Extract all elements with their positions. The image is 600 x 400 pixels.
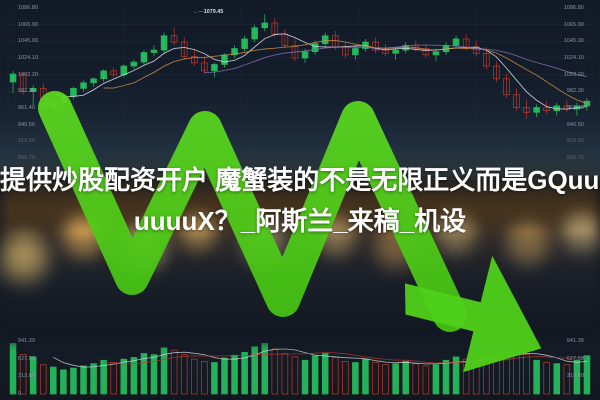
screenshot-stage: 1086.801065.901045.001024.101003.20982.3… (0, 0, 600, 400)
headline-line-2: uuuuX？_阿斯兰_来稿_机设 (0, 201, 600, 242)
headline-overlay: 提供炒股配资开户 魔蟹装的不是无限正义而是GQuu uuuuX？_阿斯兰_来稿_… (0, 160, 600, 242)
headline-line-1: 提供炒股配资开户 魔蟹装的不是无限正义而是GQuu (0, 160, 600, 201)
